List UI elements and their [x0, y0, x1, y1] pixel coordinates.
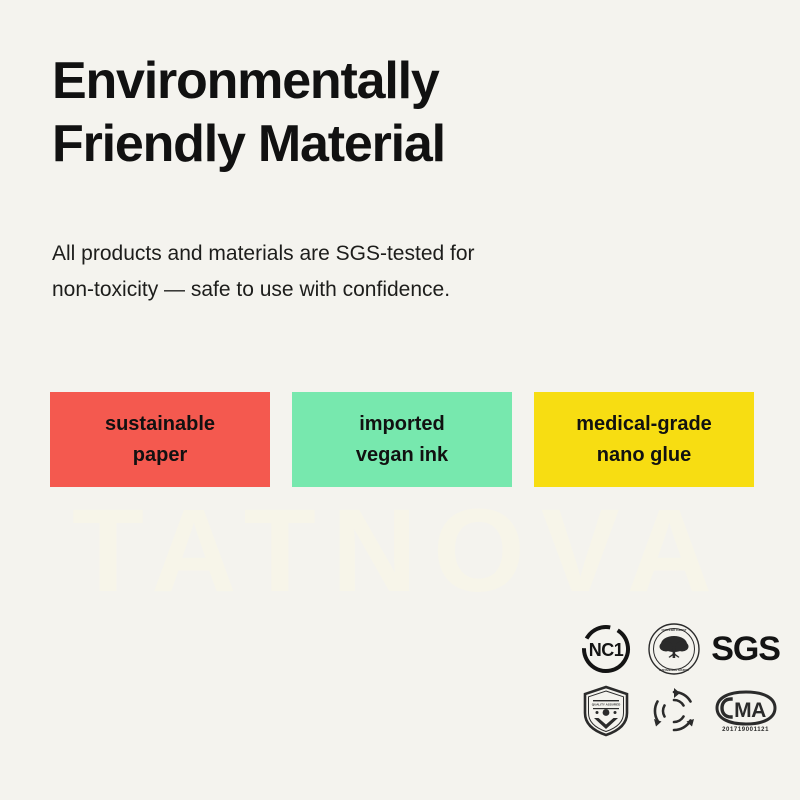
shield-certification-icon: QUALITY ASSURED: [575, 682, 637, 740]
forestry-seal-icon: CERTIFIED FOREST SUSTAINABLE SOURCE: [643, 620, 705, 678]
svg-text:SUSTAINABLE SOURCE: SUSTAINABLE SOURCE: [659, 668, 689, 672]
page-subtitle-line-2: non-toxicity — safe to use with confiden…: [52, 272, 652, 308]
sgs-certification-logo: SGS: [711, 620, 780, 678]
material-badge-sustainable-paper: sustainable paper: [50, 392, 270, 487]
material-badge-nano-glue: medical-grade nano glue: [534, 392, 754, 487]
material-badge-line-2: vegan ink: [356, 440, 448, 471]
brand-watermark: TATNOVA: [0, 492, 800, 610]
material-badge-line-1: sustainable: [105, 409, 215, 440]
page-title-line-2: Friendly Material: [52, 113, 672, 176]
material-badge-line-1: medical-grade: [576, 409, 712, 440]
page-title: Environmentally Friendly Material: [52, 50, 672, 177]
material-badge-vegan-ink: imported vegan ink: [292, 392, 512, 487]
cma-certification-icon: MA 201719001121: [711, 682, 780, 740]
recycling-icon: [643, 682, 705, 740]
page-title-line-1: Environmentally: [52, 50, 672, 113]
page-subtitle-line-1: All products and materials are SGS-teste…: [52, 236, 652, 272]
poster-canvas: TATNOVA Environmentally Friendly Materia…: [0, 0, 800, 800]
sgs-label: SGS: [711, 632, 780, 666]
nc1-certification-icon: NC1: [575, 620, 637, 678]
material-badge-list: sustainable paper imported vegan ink med…: [50, 392, 754, 487]
svg-text:CERTIFIED FOREST: CERTIFIED FOREST: [662, 628, 687, 632]
material-badge-line-1: imported: [359, 409, 445, 440]
page-subtitle: All products and materials are SGS-teste…: [52, 236, 652, 308]
svg-text:QUALITY ASSURED: QUALITY ASSURED: [592, 703, 621, 707]
svg-text:NC1: NC1: [589, 640, 624, 660]
material-badge-line-2: nano glue: [597, 440, 691, 471]
certification-logo-grid: NC1 CERTIFIED FOREST SUSTAINABLE SOURCE: [575, 620, 780, 740]
cma-serial-number: 201719001121: [722, 727, 769, 733]
material-badge-line-2: paper: [133, 440, 187, 471]
svg-text:MA: MA: [734, 699, 766, 722]
